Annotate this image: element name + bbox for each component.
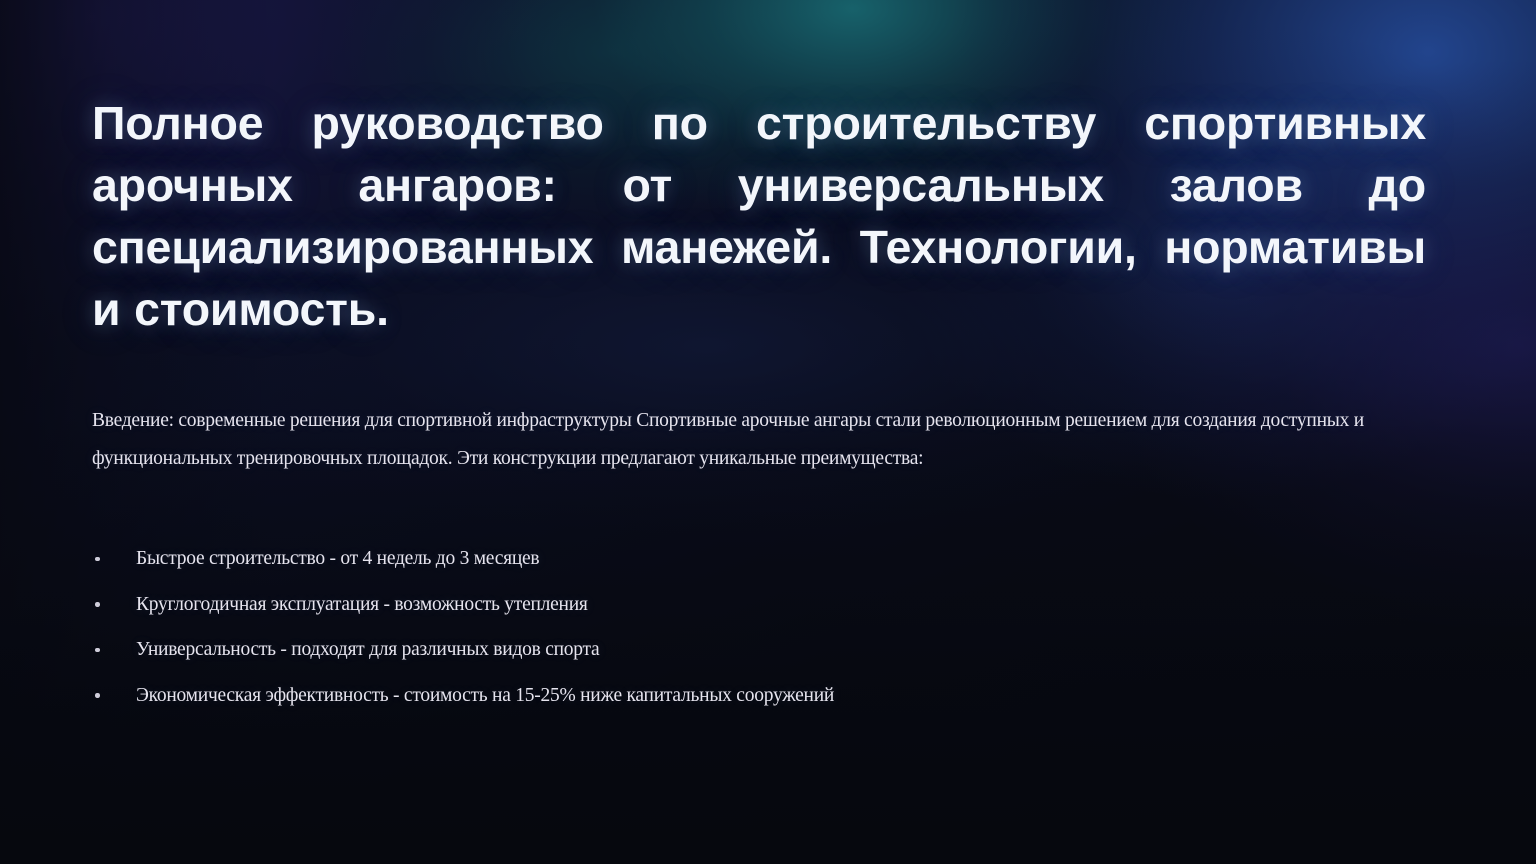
list-item: Экономическая эффективность - стоимость … — [92, 673, 1412, 719]
list-item: Универсальность - подходят для различных… — [92, 627, 1412, 673]
list-item: Круглогодичная эксплуатация - возможност… — [92, 582, 1412, 628]
list-item: Быстрое строительство - от 4 недель до 3… — [92, 536, 1412, 582]
list-item-label: Универсальность - подходят для различных… — [136, 639, 599, 660]
benefits-bullet-list: Быстрое строительство - от 4 недель до 3… — [92, 536, 1412, 718]
slide-content: Полное руководство по строительству спор… — [0, 0, 1536, 864]
list-item-label: Экономическая эффективность - стоимость … — [136, 685, 834, 706]
intro-paragraph: Введение: современные решения для спорти… — [92, 402, 1392, 478]
list-item-label: Быстрое строительство - от 4 недель до 3… — [136, 548, 539, 569]
slide-title: Полное руководство по строительству спор… — [92, 92, 1426, 340]
bullet-dot-icon — [95, 602, 100, 607]
presentation-slide: Полное руководство по строительству спор… — [0, 0, 1536, 864]
bullet-dot-icon — [95, 693, 100, 698]
bullet-dot-icon — [95, 648, 100, 653]
bullet-dot-icon — [95, 557, 100, 562]
list-item-label: Круглогодичная эксплуатация - возможност… — [136, 594, 588, 615]
